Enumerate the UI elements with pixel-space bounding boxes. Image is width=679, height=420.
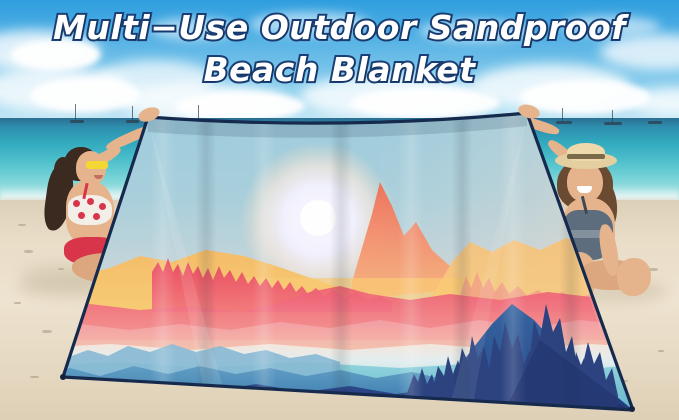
product-marketing-image: Multi−Use Outdoor Sandproof Beach Blanke… xyxy=(0,0,679,420)
corner-tab-bottom-left xyxy=(60,374,66,380)
corner-tab-bottom-right xyxy=(629,406,635,412)
beach-blanket xyxy=(0,0,679,420)
blanket-print xyxy=(40,100,679,420)
